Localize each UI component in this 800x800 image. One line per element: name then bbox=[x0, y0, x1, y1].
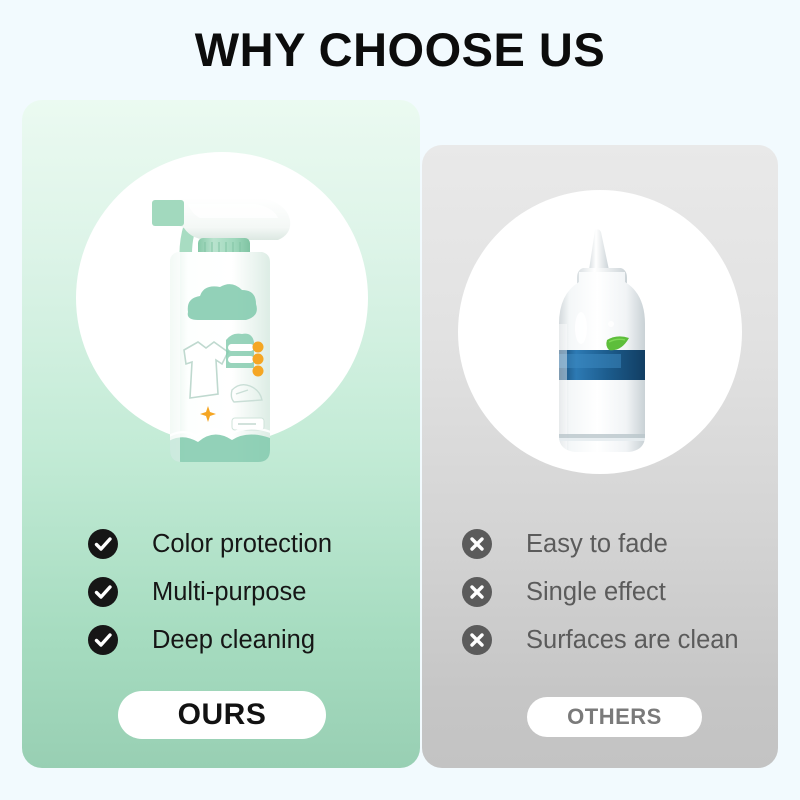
cross-icon bbox=[462, 625, 492, 655]
comparison-infographic: WHY CHOOSE US bbox=[0, 0, 800, 800]
others-feature-list: Easy to fade Single effect Surfaces are … bbox=[462, 520, 772, 664]
list-item: Multi-purpose bbox=[88, 568, 408, 616]
list-item: Single effect bbox=[462, 568, 772, 616]
others-product-image bbox=[535, 228, 670, 466]
list-item-label: Surfaces are clean bbox=[526, 625, 739, 655]
cross-icon bbox=[462, 529, 492, 559]
list-item: Surfaces are clean bbox=[462, 616, 772, 664]
page-title: WHY CHOOSE US bbox=[0, 22, 800, 78]
ours-product-image bbox=[140, 162, 305, 472]
check-icon bbox=[88, 529, 118, 559]
list-item-label: Color protection bbox=[152, 529, 332, 559]
ours-feature-list: Color protection Multi-purpose Deep clea… bbox=[88, 520, 408, 664]
check-icon bbox=[88, 577, 118, 607]
cross-icon bbox=[462, 577, 492, 607]
others-badge[interactable]: OTHERS bbox=[527, 697, 702, 737]
check-icon bbox=[88, 625, 118, 655]
list-item-label: Single effect bbox=[526, 577, 666, 607]
ours-badge[interactable]: OURS bbox=[118, 691, 326, 739]
list-item-label: Multi-purpose bbox=[152, 577, 306, 607]
list-item-label: Deep cleaning bbox=[152, 625, 315, 655]
list-item: Easy to fade bbox=[462, 520, 772, 568]
list-item: Deep cleaning bbox=[88, 616, 408, 664]
list-item: Color protection bbox=[88, 520, 408, 568]
list-item-label: Easy to fade bbox=[526, 529, 668, 559]
